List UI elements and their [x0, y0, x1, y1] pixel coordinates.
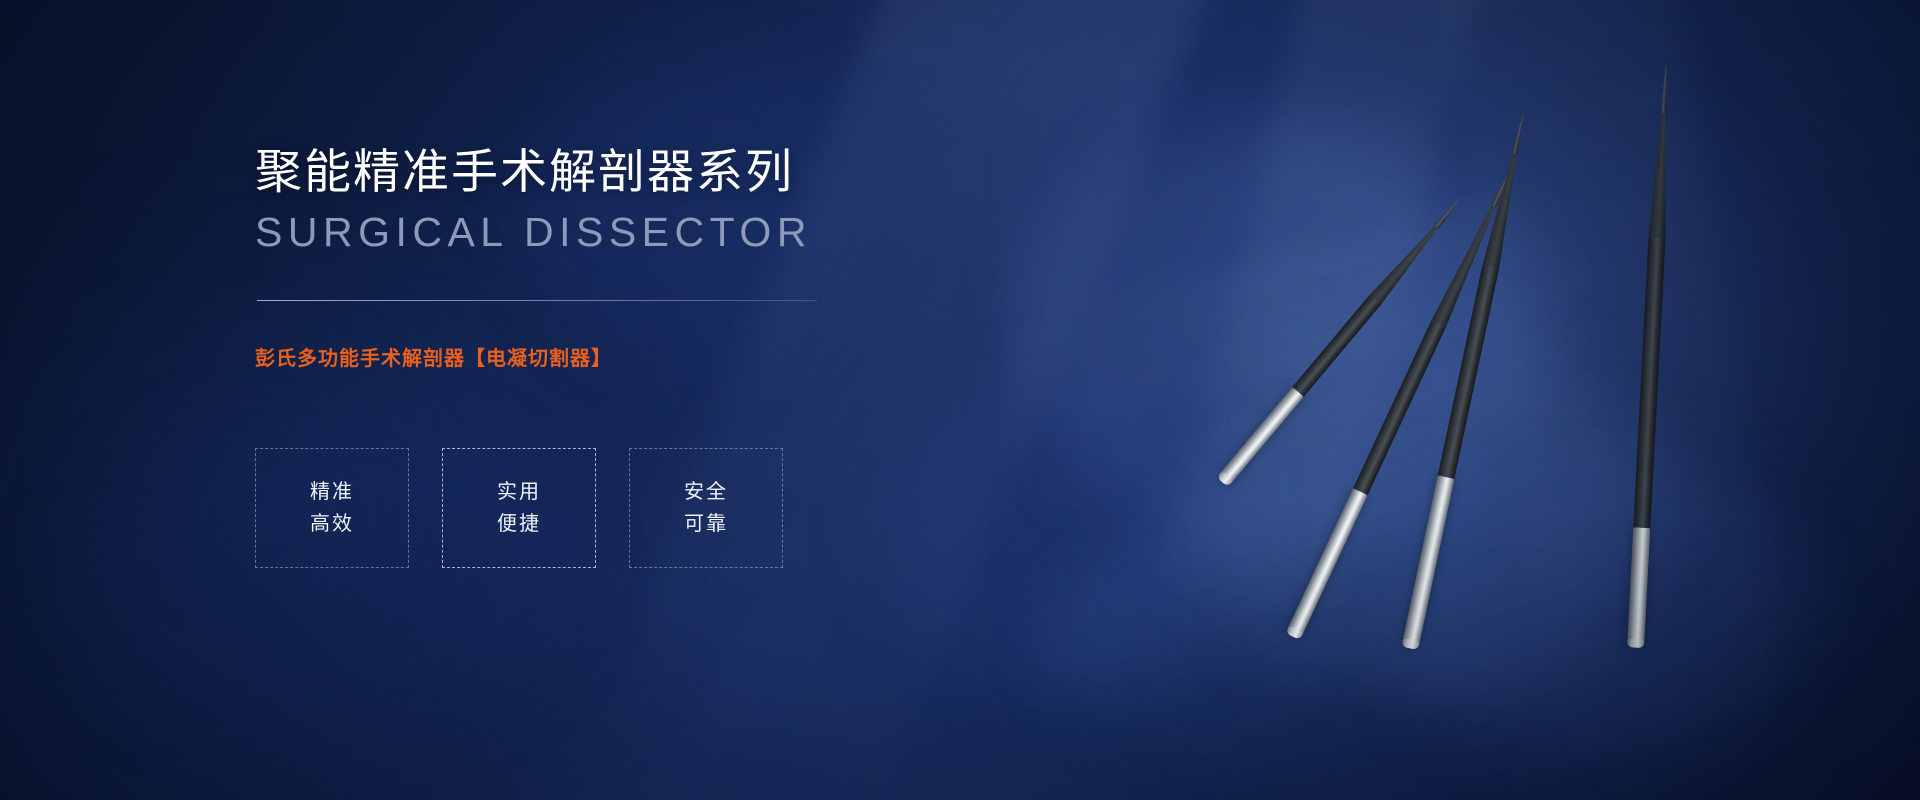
page-title: 聚能精准手术解剖器系列 [255, 148, 794, 195]
product-name-label: 彭氏多功能手术解剖器【电凝切割器】 [255, 342, 612, 371]
feature-box-3-line1: 安全 [684, 482, 728, 502]
feature-box-2: 实用 便捷 [442, 448, 596, 568]
feature-box-2-line1: 实用 [497, 482, 541, 502]
page-subtitle-english: SURGICAL DISSECTOR [255, 212, 812, 253]
feature-box-3: 安全 可靠 [629, 448, 783, 568]
feature-box-1-line1: 精准 [310, 482, 354, 502]
feature-box-2-line2: 便捷 [497, 514, 541, 534]
title-divider [257, 300, 817, 301]
feature-box-1-line2: 高效 [310, 514, 354, 534]
product-banner: 聚能精准手术解剖器系列 SURGICAL DISSECTOR 彭氏多功能手术解剖… [0, 0, 1920, 800]
feature-box-1: 精准 高效 [255, 448, 409, 568]
feature-box-group: 精准 高效 实用 便捷 安全 可靠 [255, 448, 783, 568]
feature-box-3-line2: 可靠 [684, 514, 728, 534]
banner-content: 聚能精准手术解剖器系列 SURGICAL DISSECTOR 彭氏多功能手术解剖… [255, 0, 895, 800]
